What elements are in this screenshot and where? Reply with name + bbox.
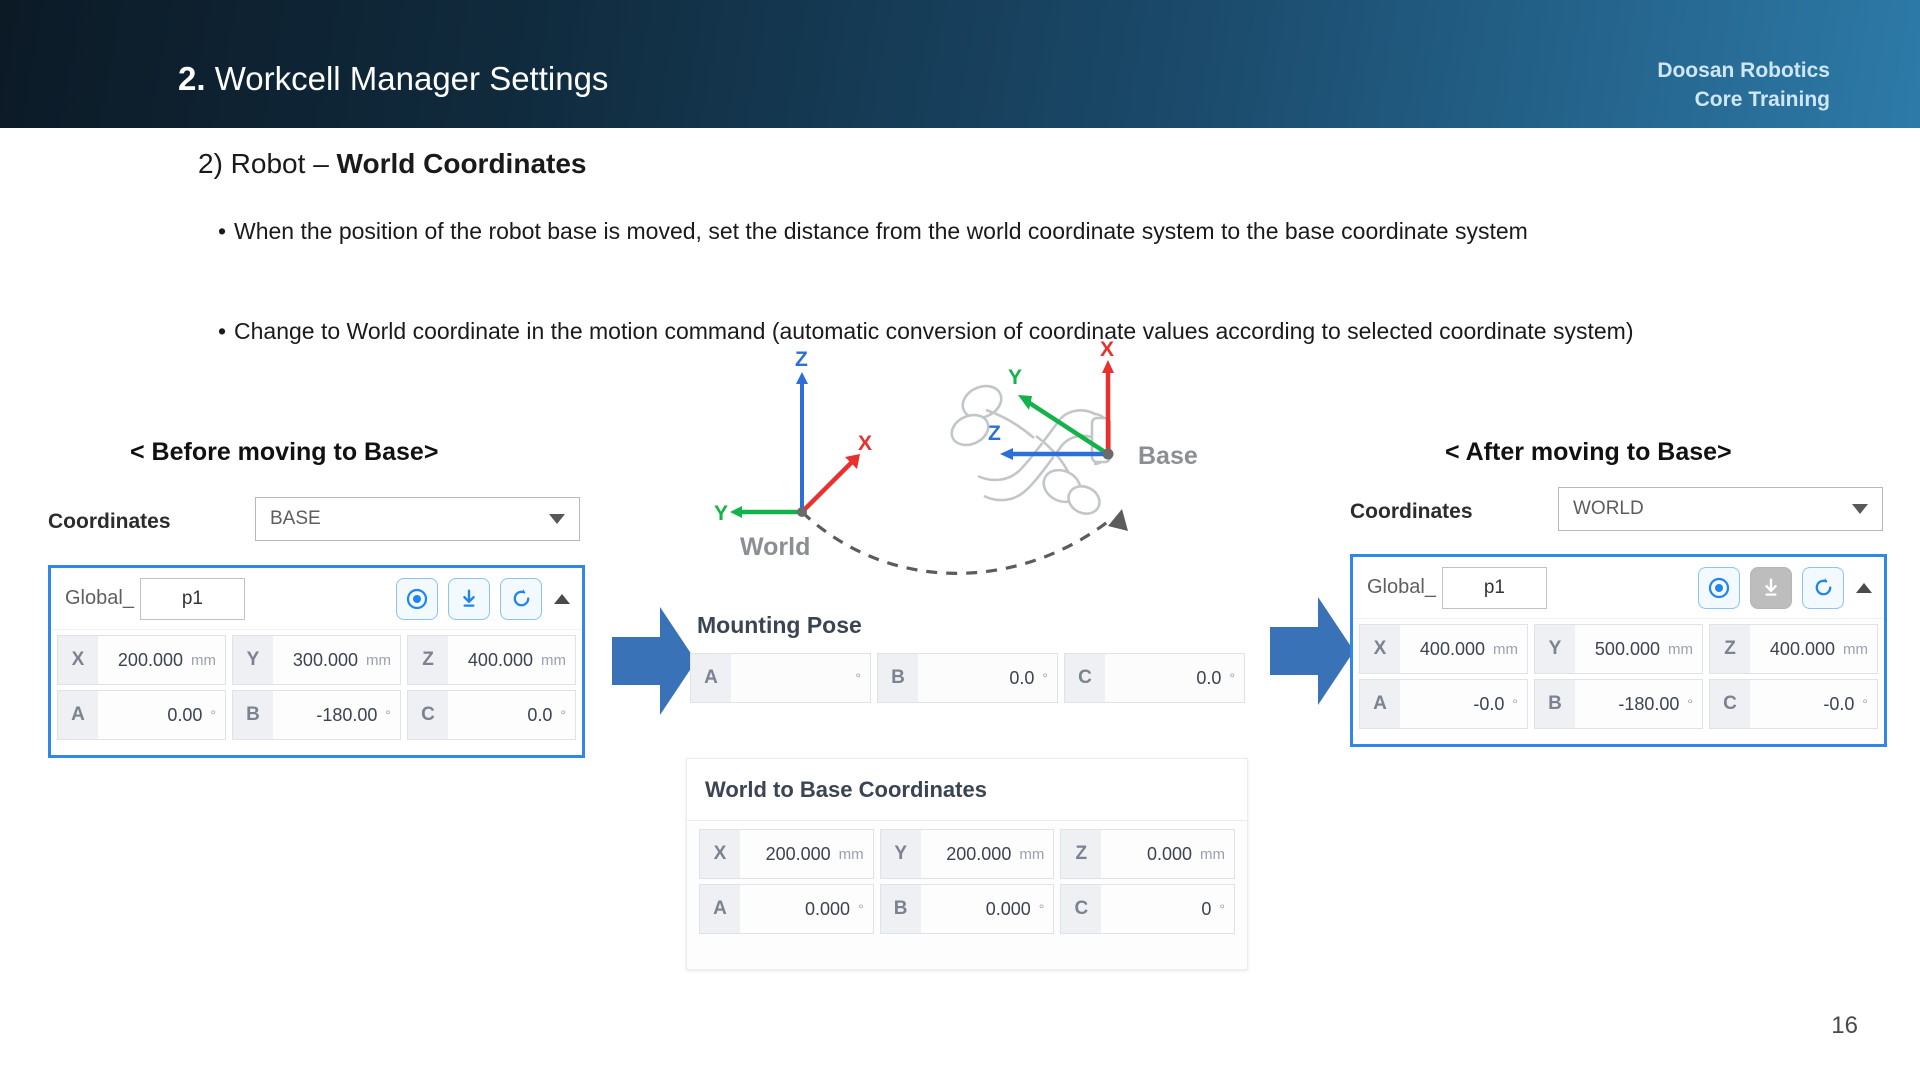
field-b-unit: °: [1687, 696, 1702, 712]
brand-line-1: Doosan Robotics: [1657, 56, 1830, 85]
base-origin: [1103, 449, 1114, 460]
target-icon-button[interactable]: [396, 578, 438, 620]
w2b-field-b-key: B: [881, 885, 921, 933]
field-z-key: Z: [408, 636, 448, 684]
field-a-key: A: [58, 691, 98, 739]
field-z-unit: mm: [541, 652, 575, 669]
flow-arrow-right: [1268, 595, 1356, 707]
w2b-field-b-unit: °: [1039, 901, 1054, 917]
base-x-arrowhead: [1102, 360, 1114, 373]
mount-field-b-key: B: [878, 654, 918, 702]
download-icon-button: [1750, 567, 1792, 609]
page-number: 16: [1831, 1012, 1858, 1040]
bullet-text: When the position of the robot base is m…: [218, 210, 1658, 252]
pose-panel-header: Global_ p1: [1353, 557, 1884, 619]
field-z[interactable]: Z 400.000 mm: [407, 635, 576, 685]
w2b-field-b-value: 0.000: [921, 899, 1039, 920]
field-x-unit: mm: [1493, 641, 1527, 658]
w2b-field-y-key: Y: [881, 830, 921, 878]
field-y[interactable]: Y 500.000 mm: [1534, 624, 1703, 674]
pose-row: A -0.0 ° B -180.00 ° C -0.0 °: [1359, 679, 1878, 729]
field-z-value: 400.000: [448, 650, 541, 671]
field-z[interactable]: Z 400.000 mm: [1709, 624, 1878, 674]
base-y-label: Y: [1008, 366, 1022, 389]
world-z-arrowhead: [796, 372, 808, 384]
field-y-value: 300.000: [273, 650, 366, 671]
pose-row: X 200.000 mm Y 200.000 mm Z 0.000 mm: [699, 829, 1235, 879]
mount-field-c-key: C: [1065, 654, 1105, 702]
brand-block: Doosan Robotics Core Training: [1657, 56, 1830, 114]
point-name-input[interactable]: p1: [140, 578, 245, 620]
before-caption: < Before moving to Base>: [130, 438, 438, 467]
field-y-unit: mm: [1668, 641, 1702, 658]
subtitle-prefix: 2) Robot: [198, 148, 305, 179]
w2b-field-y-value: 200.000: [921, 844, 1020, 865]
mount-field-a[interactable]: A °: [690, 653, 871, 703]
w2b-field-x-value: 200.000: [740, 844, 839, 865]
pose-row: A ° B 0.0 ° C 0.0 °: [690, 653, 1245, 703]
mount-field-c-value: 0.0: [1105, 668, 1229, 689]
pose-values: X 400.000 mm Y 500.000 mm Z 400.000 mm A: [1353, 619, 1884, 740]
base-x-label: X: [1100, 340, 1114, 361]
world-frame: Z X Y World: [714, 348, 872, 561]
download-icon: [458, 588, 480, 610]
pose-row: X 400.000 mm Y 500.000 mm Z 400.000 mm: [1359, 624, 1878, 674]
field-b-key: B: [1535, 680, 1575, 728]
after-caption: < After moving to Base>: [1445, 438, 1732, 467]
field-b-value: -180.00: [273, 705, 385, 726]
slide-header: 2. Workcell Manager Settings Doosan Robo…: [0, 0, 1920, 128]
field-c-unit: °: [1862, 696, 1877, 712]
w2b-field-a-unit: °: [858, 901, 873, 917]
target-icon: [1707, 576, 1731, 600]
pose-row: A 0.00 ° B -180.00 ° C 0.0 °: [57, 690, 576, 740]
chapter-title: Workcell Manager Settings: [215, 60, 609, 97]
refresh-icon: [510, 587, 533, 610]
field-x-value: 200.000: [98, 650, 191, 671]
base-label: Base: [1138, 442, 1198, 470]
w2b-field-b[interactable]: B 0.000 °: [880, 884, 1055, 934]
mounting-pose-values: A ° B 0.0 ° C 0.0 °: [690, 653, 1245, 708]
refresh-icon-button[interactable]: [500, 578, 542, 620]
world-to-base-card: World to Base Coordinates X 200.000 mm Y…: [686, 758, 1248, 970]
field-c[interactable]: C -0.0 °: [1709, 679, 1878, 729]
world-origin: [797, 507, 807, 517]
global-prefix-label: Global_: [65, 587, 134, 610]
point-name-value: p1: [182, 588, 203, 610]
mount-field-b[interactable]: B 0.0 °: [877, 653, 1058, 703]
w2b-field-c[interactable]: C 0 °: [1060, 884, 1235, 934]
coordinates-select-right-value: WORLD: [1573, 498, 1852, 520]
w2b-field-y[interactable]: Y 200.000 mm: [880, 829, 1055, 879]
field-a-unit: °: [210, 707, 225, 723]
field-x-value: 400.000: [1400, 639, 1493, 660]
slide: 2. Workcell Manager Settings Doosan Robo…: [0, 0, 1920, 1080]
w2b-field-x[interactable]: X 200.000 mm: [699, 829, 874, 879]
refresh-icon: [1812, 576, 1835, 599]
brand-line-2: Core Training: [1657, 85, 1830, 114]
motion-path-arrowhead: [1108, 509, 1128, 531]
target-icon: [405, 587, 429, 611]
motion-path: [802, 512, 1110, 573]
pose-panel-header: Global_ p1: [51, 568, 582, 630]
flow-arrow-right: [610, 605, 698, 717]
chevron-up-icon[interactable]: [554, 594, 570, 604]
field-z-value: 400.000: [1750, 639, 1843, 660]
world-label: World: [740, 533, 810, 561]
coordinates-select-right[interactable]: WORLD: [1558, 487, 1883, 531]
world-to-base-values: X 200.000 mm Y 200.000 mm Z 0.000 mm A: [687, 821, 1247, 949]
field-x[interactable]: X 200.000 mm: [57, 635, 226, 685]
w2b-field-z[interactable]: Z 0.000 mm: [1060, 829, 1235, 879]
field-x-key: X: [1360, 625, 1400, 673]
subtitle-dash: –: [313, 148, 329, 179]
point-name-value: p1: [1484, 577, 1505, 599]
pose-values: X 200.000 mm Y 300.000 mm Z 400.000 mm A: [51, 630, 582, 751]
base-y-arrowhead: [1018, 395, 1032, 410]
w2b-field-z-unit: mm: [1200, 846, 1234, 863]
field-c-value: -0.0: [1750, 694, 1862, 715]
w2b-field-z-key: Z: [1061, 830, 1101, 878]
w2b-field-y-unit: mm: [1019, 846, 1053, 863]
page-title: 2. Workcell Manager Settings: [178, 60, 608, 98]
coordinates-label-left: Coordinates: [48, 510, 171, 534]
chevron-up-icon[interactable]: [1856, 583, 1872, 593]
field-z-key: Z: [1710, 625, 1750, 673]
bullet-marker: •: [218, 210, 226, 252]
point-name-input[interactable]: p1: [1442, 567, 1547, 609]
field-z-unit: mm: [1843, 641, 1877, 658]
field-b[interactable]: B -180.00 °: [232, 690, 401, 740]
w2b-field-c-key: C: [1061, 885, 1101, 933]
w2b-field-z-value: 0.000: [1101, 844, 1200, 865]
coordinates-label-right: Coordinates: [1350, 500, 1473, 524]
field-b[interactable]: B -180.00 °: [1534, 679, 1703, 729]
bullet-item: • When the position of the robot base is…: [218, 210, 1658, 252]
coordinates-select-left[interactable]: BASE: [255, 497, 580, 541]
field-c-key: C: [1710, 680, 1750, 728]
field-a-key: A: [1360, 680, 1400, 728]
field-x-key: X: [58, 636, 98, 684]
field-a-value: -0.0: [1400, 694, 1512, 715]
mount-field-a-key: A: [691, 654, 731, 702]
world-to-base-title: World to Base Coordinates: [687, 759, 1247, 821]
field-c[interactable]: C 0.0 °: [407, 690, 576, 740]
chevron-down-icon: [1852, 504, 1868, 514]
field-y-key: Y: [233, 636, 273, 684]
world-base-diagram: Z X Y World X Y Z Base: [690, 340, 1290, 600]
w2b-field-a[interactable]: A 0.000 °: [699, 884, 874, 934]
target-icon-button[interactable]: [1698, 567, 1740, 609]
field-c-unit: °: [560, 707, 575, 723]
field-a-unit: °: [1512, 696, 1527, 712]
world-x-label: X: [858, 432, 872, 455]
field-y-key: Y: [1535, 625, 1575, 673]
w2b-field-x-key: X: [700, 830, 740, 878]
coordinates-select-left-value: BASE: [270, 508, 549, 530]
w2b-field-a-value: 0.000: [740, 899, 858, 920]
field-a[interactable]: A 0.00 °: [57, 690, 226, 740]
world-y-label: Y: [714, 502, 728, 525]
field-c-value: 0.0: [448, 705, 560, 726]
field-x[interactable]: X 400.000 mm: [1359, 624, 1528, 674]
section-subtitle: 2) Robot – World Coordinates: [198, 148, 586, 180]
field-b-unit: °: [385, 707, 400, 723]
w2b-field-a-key: A: [700, 885, 740, 933]
pose-panel-before: Global_ p1: [48, 565, 585, 758]
field-b-key: B: [233, 691, 273, 739]
w2b-field-x-unit: mm: [839, 846, 873, 863]
base-z-label: Z: [988, 422, 1001, 445]
field-y-value: 500.000: [1575, 639, 1668, 660]
field-b-value: -180.00: [1575, 694, 1687, 715]
chevron-down-icon: [549, 514, 565, 524]
pose-row: A 0.000 ° B 0.000 ° C 0 °: [699, 884, 1235, 934]
field-y-unit: mm: [366, 652, 400, 669]
field-c-key: C: [408, 691, 448, 739]
mount-field-b-unit: °: [1042, 670, 1057, 686]
pose-panel-after: Global_ p1: [1350, 554, 1887, 747]
mount-field-a-unit: °: [855, 670, 870, 686]
subtitle-emphasis: World Coordinates: [337, 148, 587, 179]
field-a-value: 0.00: [98, 705, 210, 726]
mount-field-c-unit: °: [1229, 670, 1244, 686]
w2b-field-c-unit: °: [1219, 901, 1234, 917]
mount-field-c[interactable]: C 0.0 °: [1064, 653, 1245, 703]
field-y[interactable]: Y 300.000 mm: [232, 635, 401, 685]
mount-field-b-value: 0.0: [918, 668, 1042, 689]
world-x-axis: [802, 462, 852, 512]
world-z-label: Z: [795, 348, 808, 371]
pose-row: X 200.000 mm Y 300.000 mm Z 400.000 mm: [57, 635, 576, 685]
field-x-unit: mm: [191, 652, 225, 669]
refresh-icon-button[interactable]: [1802, 567, 1844, 609]
bullet-marker: •: [218, 310, 226, 352]
chapter-number: 2.: [178, 60, 206, 97]
download-icon: [1760, 577, 1782, 599]
field-a[interactable]: A -0.0 °: [1359, 679, 1528, 729]
base-z-arrowhead: [1000, 448, 1013, 460]
w2b-field-c-value: 0: [1101, 899, 1219, 920]
download-icon-button[interactable]: [448, 578, 490, 620]
mounting-pose-title: Mounting Pose: [697, 612, 862, 639]
global-prefix-label: Global_: [1367, 576, 1436, 599]
world-y-arrowhead: [730, 506, 742, 518]
